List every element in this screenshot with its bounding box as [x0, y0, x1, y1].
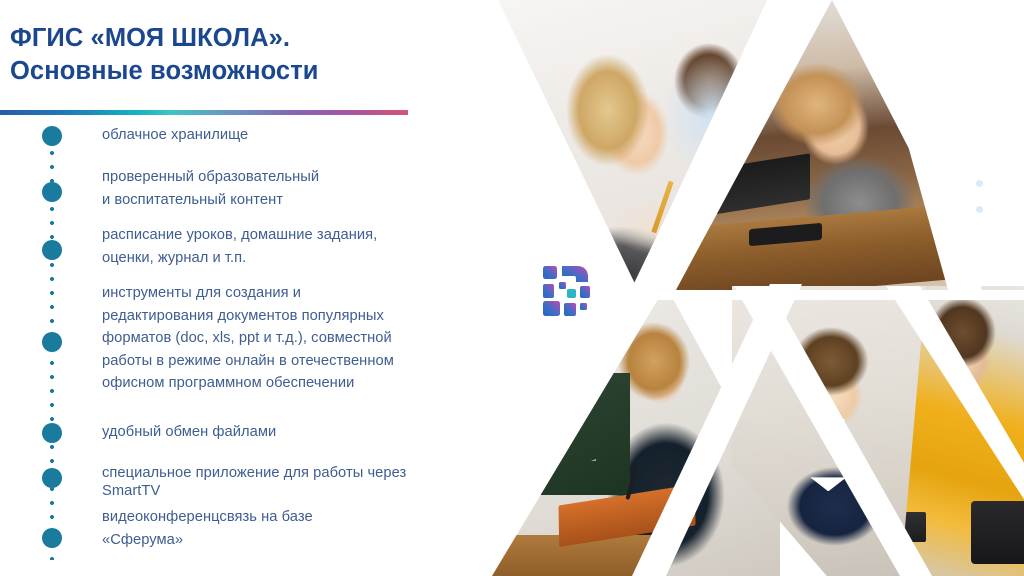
gradient-divider [0, 110, 408, 115]
bullet-dot-icon [42, 126, 62, 146]
list-item-line: «Сферума» [102, 532, 183, 548]
list-item-line: редактирования документов популярных [102, 308, 384, 324]
list-item-line: форматов (doc, xls, ppt и т.д.), совмест… [102, 330, 392, 346]
bullet-dot-icon [42, 528, 62, 548]
list-item-label: специальное приложение для работы через … [102, 464, 502, 500]
list-item-line: расписание уроков, домашние задания, [102, 227, 377, 243]
list-item-line: инструменты для создания и [102, 285, 301, 301]
list-item-line: видеоконференцсвязь на базе [102, 509, 313, 525]
bullet-dot-icon [42, 240, 62, 260]
list-item-line: проверенный образовательный [102, 169, 319, 185]
bullet-dot-icon [42, 468, 62, 488]
list-item-line: оценки, журнал и т.п. [102, 250, 246, 266]
bullet-dot-icon [42, 332, 62, 352]
feature-list: облачное хранилище проверенный образоват… [0, 124, 500, 574]
list-item-line: офисном программном обеспечении [102, 375, 354, 391]
page-title-line-1: ФГИС «МОЯ ШКОЛА». [10, 22, 480, 55]
list-item-label: расписание уроков, домашние задания, оце… [102, 224, 502, 269]
list-item-label: облачное хранилище [102, 124, 502, 147]
list-item-line: SmartTV [102, 482, 502, 500]
my-school-logo-icon [540, 262, 598, 320]
list-item-line: специальное приложение для работы через [102, 464, 502, 482]
page-title: ФГИС «МОЯ ШКОЛА». Основные возможности [10, 22, 480, 88]
list-item-line: и воспитательный контент [102, 192, 283, 208]
content-pane: ФГИС «МОЯ ШКОЛА». Основные возможности о… [0, 0, 520, 576]
list-item-label: удобный обмен файлами [102, 421, 502, 444]
presentation-slide: ФГИС «МОЯ ШКОЛА». Основные возможности о… [0, 0, 1024, 576]
bullet-dot-icon [42, 182, 62, 202]
list-item-line: работы в режиме онлайн в отечественном [102, 353, 394, 369]
list-item-line: облачное хранилище [102, 127, 248, 143]
list-item-label: видеоконференцсвязь на базе «Сферума» [102, 506, 502, 551]
bullet-dot-icon [42, 423, 62, 443]
list-item-label: проверенный образовательный и воспитател… [102, 166, 502, 211]
page-title-line-2: Основные возможности [10, 55, 480, 88]
list-item-label: инструменты для создания и редактировани… [102, 282, 502, 395]
list-item-line: удобный обмен файлами [102, 424, 276, 440]
